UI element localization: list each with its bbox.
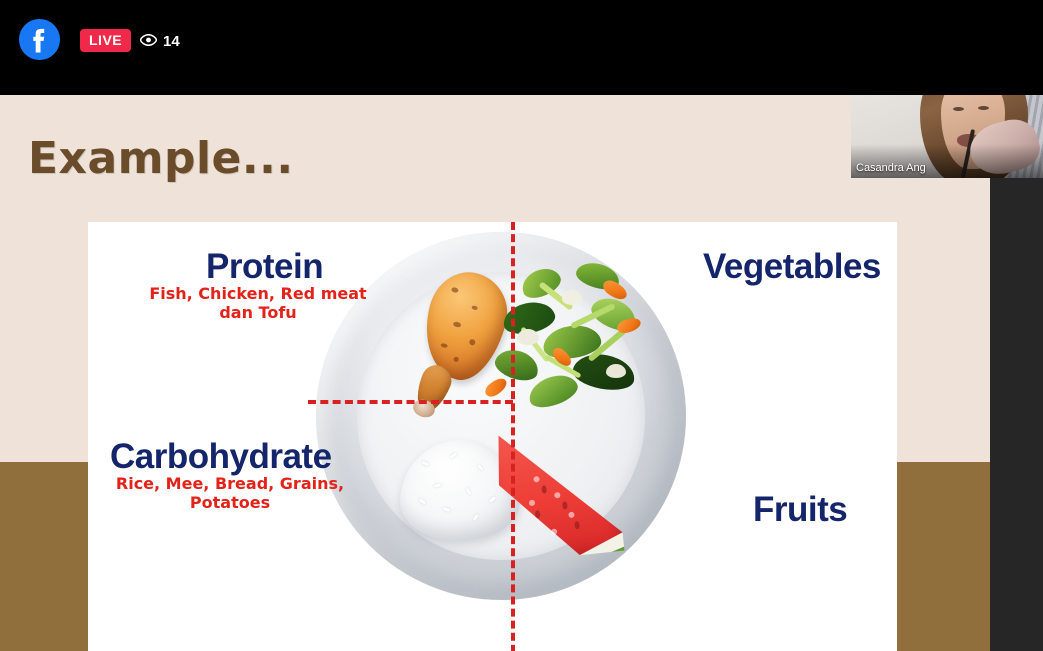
label-carbohydrate-items: Rice, Mee, Bread, Grains, Potatoes [100, 474, 360, 512]
participant-name: Casandra Ang [856, 162, 926, 174]
label-vegetables: Vegetables [703, 247, 881, 287]
plate-divider-horizontal [308, 400, 513, 404]
viewer-count: 14 [163, 33, 180, 50]
vegetables-graphic [488, 264, 672, 426]
facebook-live-bar: LIVE 14 [0, 0, 1043, 95]
stream-screen: Example... [0, 0, 1043, 651]
plate-divider-vertical [511, 222, 515, 651]
eye-icon [140, 33, 157, 50]
presentation-slide: Example... [0, 95, 990, 651]
live-badge: LIVE [80, 29, 131, 52]
slide-title: Example... [28, 133, 294, 184]
facebook-icon[interactable] [19, 19, 60, 60]
label-carbohydrate: Carbohydrate [110, 437, 332, 477]
label-protein-items: Fish, Chicken, Red meat dan Tofu [133, 284, 383, 322]
viewer-count-group: 14 [140, 30, 180, 52]
label-fruits: Fruits [753, 490, 847, 530]
right-gutter [990, 95, 1043, 651]
label-protein: Protein [206, 247, 323, 287]
food-plate-figure: Protein Fish, Chicken, Red meat dan Tofu… [88, 222, 897, 651]
